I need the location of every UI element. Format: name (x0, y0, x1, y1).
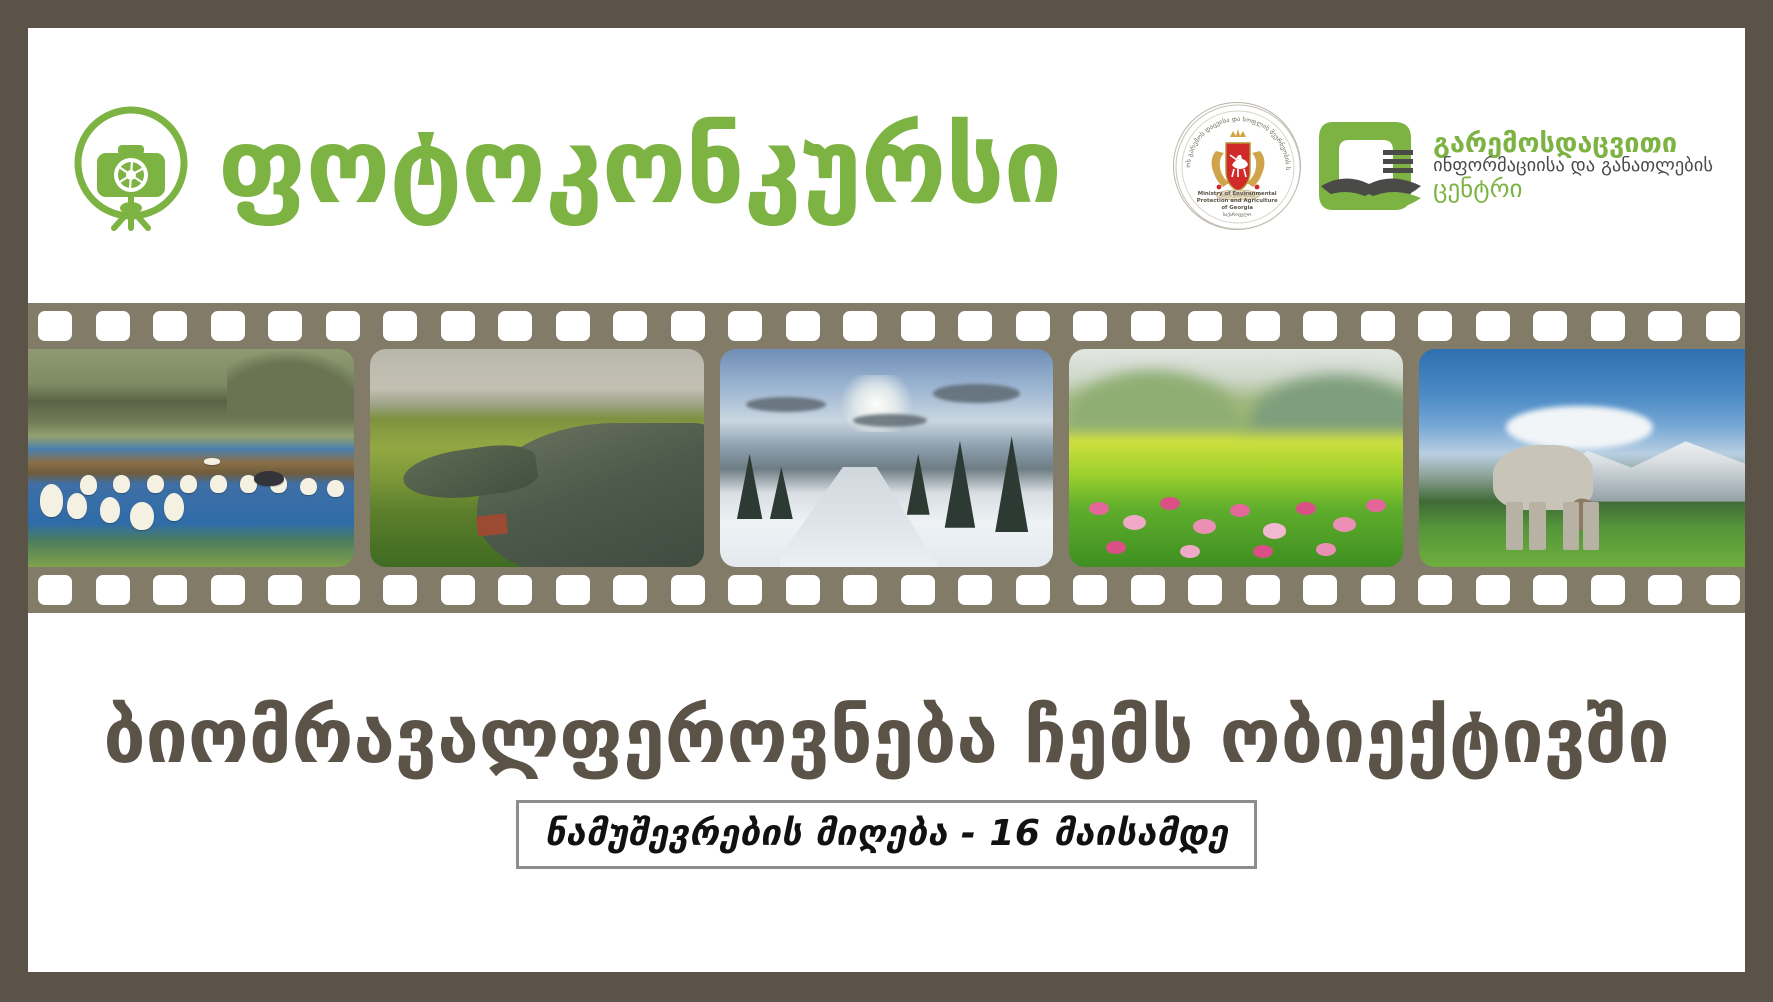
film-perforation (958, 311, 992, 341)
film-strip (28, 303, 1745, 613)
film-perforation (96, 575, 130, 605)
photo-frame-1[interactable] (28, 349, 354, 567)
deadline-text: ნამუშევრების მიღება - 16 მაისამდე (545, 813, 1229, 854)
eiec-line-3: ცენტრი (1433, 176, 1713, 202)
film-perforation (1706, 311, 1740, 341)
film-perforation (441, 311, 475, 341)
seal-caption-ge: საქართველო (1188, 213, 1286, 219)
photo-5-cloud (1506, 406, 1653, 450)
photo-frame-4[interactable] (1069, 349, 1403, 567)
film-perforation (786, 575, 820, 605)
film-perforation (1131, 575, 1165, 605)
film-perforation (1361, 311, 1395, 341)
photo-5-scene (1419, 349, 1745, 567)
film-perforation (153, 311, 187, 341)
deadline-box: ნამუშევრების მიღება - 16 მაისამდე (516, 800, 1258, 869)
film-perforation (211, 311, 245, 341)
film-perforation (958, 575, 992, 605)
seal-caption-line3: of Georgia (1188, 205, 1286, 212)
film-perforation (1188, 575, 1222, 605)
film-perforation (556, 311, 590, 341)
film-perforation (613, 575, 647, 605)
eiec-line-1: გარემოსდაცვითი (1433, 130, 1713, 158)
photo-frame-3[interactable] (720, 349, 1054, 567)
film-perforation (1361, 575, 1395, 605)
contest-brand: ფოტოკონკურსი (66, 101, 1173, 231)
seal-caption-line1: Ministry of Environmental (1188, 191, 1286, 198)
eiec-wordmark: გარემოსდაცვითი ინფორმაციისა და განათლები… (1433, 130, 1713, 202)
film-perforation (901, 575, 935, 605)
photo-5-horse (1493, 445, 1593, 510)
photo-2-scene (370, 349, 704, 567)
film-perforation (38, 575, 72, 605)
contest-title: ფოტოკონკურსი (218, 114, 1061, 218)
photo-2-hut (476, 513, 508, 536)
film-perforation (38, 311, 72, 341)
film-perforations-top (28, 303, 1745, 349)
eiec-logo: გარემოსდაცვითი ინფორმაციისა და განათლები… (1319, 116, 1713, 216)
film-perforation (1476, 311, 1510, 341)
photo-frames (28, 349, 1745, 567)
photo-4-scene (1069, 349, 1403, 567)
film-perforation (1073, 311, 1107, 341)
poster-header: ფოტოკონკურსი საქართველოს გარემოს დაცვისა… (28, 28, 1745, 303)
film-perforation (1303, 575, 1337, 605)
eiec-book-leaf-icon (1319, 116, 1423, 216)
film-perforation (1016, 575, 1050, 605)
film-perforation (153, 575, 187, 605)
film-perforation (1188, 311, 1222, 341)
photo-frame-5[interactable] (1419, 349, 1745, 567)
film-perforation (268, 575, 302, 605)
film-perforation (498, 311, 532, 341)
film-perforation (613, 311, 647, 341)
film-perforation (1476, 575, 1510, 605)
film-perforation (1418, 575, 1452, 605)
film-perforation (498, 575, 532, 605)
film-perforation (1246, 311, 1280, 341)
film-perforation (441, 575, 475, 605)
film-perforation (326, 311, 360, 341)
film-perforation (786, 311, 820, 341)
film-perforation (1591, 575, 1625, 605)
film-perforation (1648, 311, 1682, 341)
poster-footer: ბიომრავალფეროვნება ჩემს ობიექტივში ნამუშ… (28, 613, 1745, 972)
ministry-seal: საქართველოს გარემოს დაცვისა და სოფლის მე… (1173, 102, 1301, 230)
photo-4-hill-left (1069, 366, 1253, 431)
film-perforation (728, 311, 762, 341)
film-perforation (1303, 311, 1337, 341)
film-perforation (1591, 311, 1625, 341)
film-perforation (671, 575, 705, 605)
partner-logos: საქართველოს გარემოს დაცვისა და სოფლის მე… (1173, 102, 1723, 230)
film-perforation (211, 575, 245, 605)
camera-tripod-circle-icon (66, 101, 196, 231)
film-perforation (1016, 311, 1050, 341)
film-perforation (1073, 575, 1107, 605)
film-perforations-bottom (28, 567, 1745, 613)
photo-frame-2[interactable] (370, 349, 704, 567)
photo-3-scene (720, 349, 1054, 567)
film-perforation (1648, 575, 1682, 605)
film-perforation (1131, 311, 1165, 341)
seal-caption-line2: Protection and Agriculture (1188, 198, 1286, 205)
film-perforation (326, 575, 360, 605)
poster-canvas: ფოტოკონკურსი საქართველოს გარემოს დაცვისა… (28, 28, 1745, 972)
poster-headline: ბიომრავალფეროვნება ჩემს ობიექტივში (103, 699, 1669, 774)
film-perforation (843, 575, 877, 605)
film-perforation (268, 311, 302, 341)
poster-root: ფოტოკონკურსი საქართველოს გარემოს დაცვისა… (0, 0, 1773, 1002)
seal-caption: Ministry of Environmental Protection and… (1174, 191, 1300, 219)
film-perforation (1706, 575, 1740, 605)
film-perforation (556, 575, 590, 605)
film-perforation (1418, 311, 1452, 341)
film-perforation (1246, 575, 1280, 605)
film-perforation (383, 311, 417, 341)
film-perforation (1533, 311, 1567, 341)
film-perforation (671, 311, 705, 341)
film-perforation (383, 575, 417, 605)
photo-1-scene (28, 349, 354, 567)
film-perforation (843, 311, 877, 341)
photo-4-hill-right (1236, 371, 1403, 432)
film-perforation (1533, 575, 1567, 605)
film-perforation (901, 311, 935, 341)
film-perforation (96, 311, 130, 341)
film-perforation (728, 575, 762, 605)
